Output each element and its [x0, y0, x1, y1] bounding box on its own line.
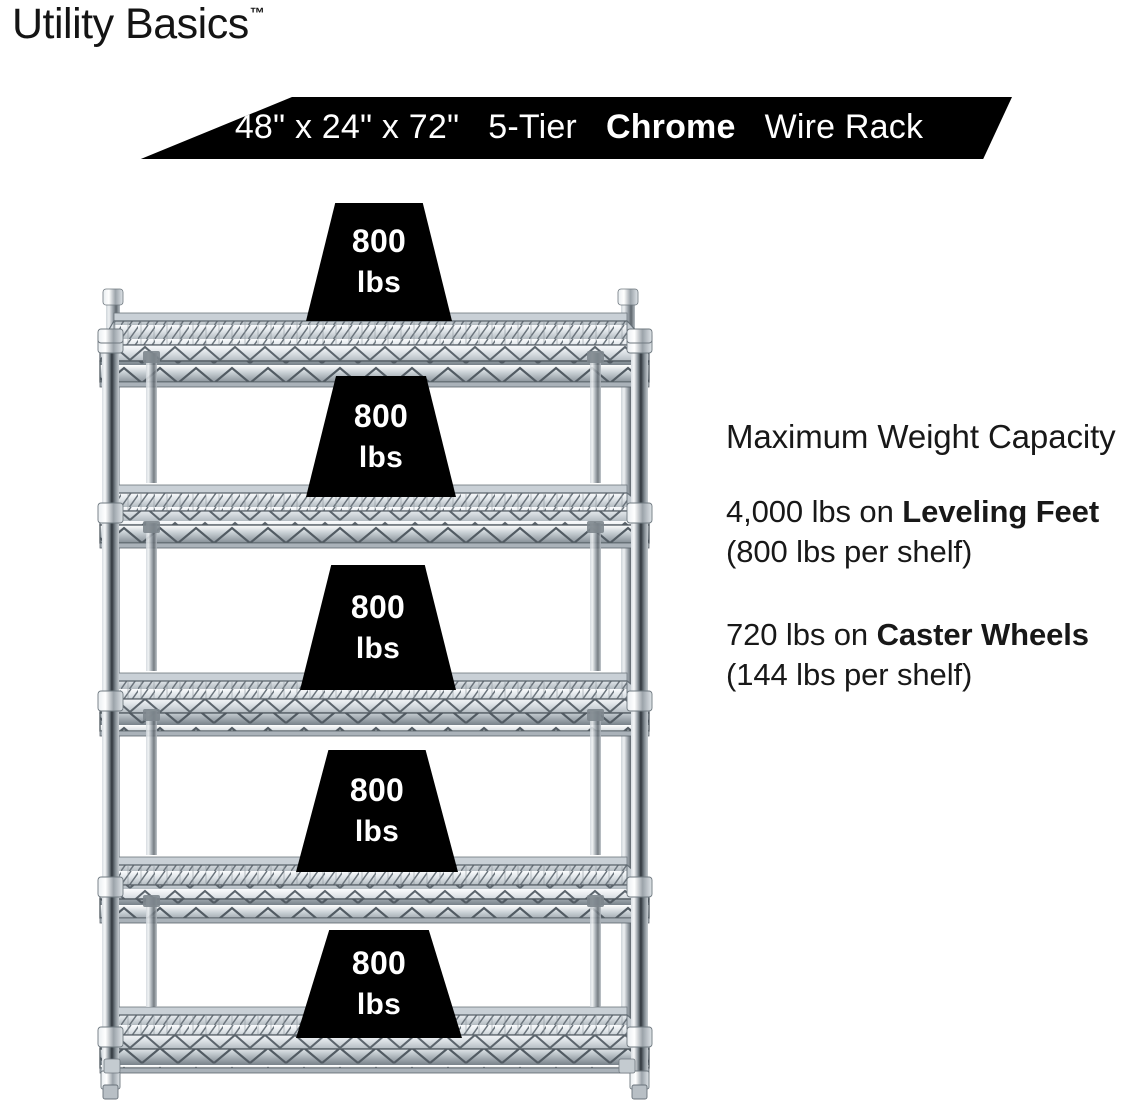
title-space-2 — [587, 108, 597, 146]
capacity-leveling-feet-text: 4,000 lbs on Leveling Feet (800 lbs per … — [726, 492, 1118, 573]
title-space-1 — [469, 108, 479, 146]
caster-wheels-lead: 720 lbs on — [726, 617, 877, 652]
capacity-badge-value: 800 — [352, 947, 406, 981]
caster-wheels-emphasis: Caster Wheels — [877, 617, 1089, 652]
product-title-text: 48" x 24" x 72" 5-Tier Chrome Wire Rack — [201, 110, 923, 146]
title-space-3 — [745, 108, 755, 146]
capacity-badge-unit: lbs — [357, 267, 401, 299]
leveling-feet-trail: (800 lbs per shelf) — [726, 534, 972, 569]
trademark-symbol: ™ — [250, 6, 265, 21]
capacity-badge-unit: lbs — [355, 816, 399, 848]
capacity-badge-value: 800 — [354, 400, 408, 434]
title-dimensions: 48" x 24" x 72" — [235, 108, 459, 146]
shelf-level-1 — [100, 313, 649, 387]
leveling-feet-lead: 4,000 lbs on — [726, 494, 902, 529]
capacity-heading: Maximum Weight Capacity — [726, 416, 1118, 458]
title-material: Chrome — [606, 108, 736, 146]
capacity-badge-value: 800 — [350, 774, 404, 808]
capacity-badge-value: 800 — [351, 591, 405, 625]
title-product: Wire Rack — [765, 108, 924, 146]
caster-wheels-trail: (144 lbs per shelf) — [726, 657, 972, 692]
brand-logo: Utility Basics ™ — [12, 2, 265, 47]
leveling-feet-emphasis: Leveling Feet — [902, 494, 1099, 529]
product-title-banner: 48" x 24" x 72" 5-Tier Chrome Wire Rack — [112, 97, 1012, 159]
capacity-badge-unit: lbs — [356, 633, 400, 665]
title-tier: 5-Tier — [488, 108, 577, 146]
brand-name: Utility Basics — [12, 2, 249, 47]
capacity-copy-block: Maximum Weight Capacity 4,000 lbs on Lev… — [726, 416, 1118, 695]
capacity-caster-wheels-text: 720 lbs on Caster Wheels (144 lbs per sh… — [726, 615, 1118, 696]
capacity-badge-value: 800 — [352, 225, 406, 259]
capacity-badge-unit: lbs — [359, 442, 403, 474]
capacity-badge-unit: lbs — [357, 989, 401, 1021]
